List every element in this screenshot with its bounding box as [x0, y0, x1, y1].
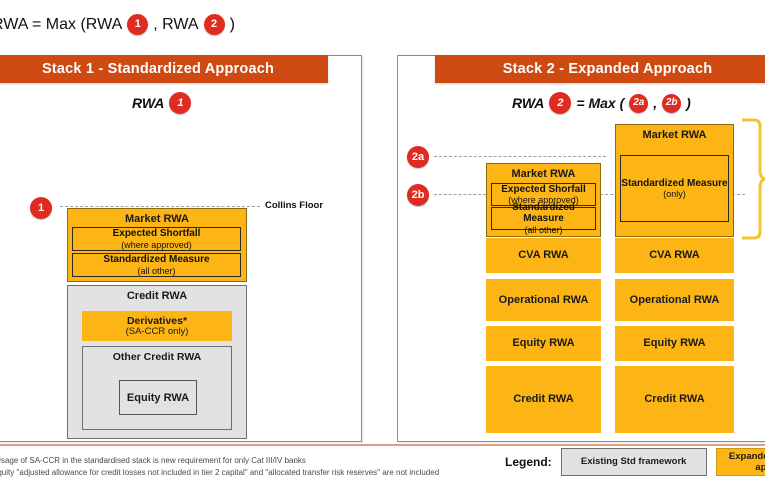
stack2-colA-operational-rwa-label: Operational RWA: [499, 294, 589, 307]
stack1-header-label: Stack 1 - Standardized Approach: [42, 61, 274, 77]
stack1-equity-rwa-box: Equity RWA: [119, 380, 197, 415]
legend-existing-std-label: Existing Std framework: [581, 456, 687, 467]
stack2-colB-standardized-measure-sub: (only): [663, 189, 686, 199]
stack1-derivatives-sub: (SA-CCR only): [126, 327, 189, 338]
legend-expanded-approach-chip: Expanded risk-based approach: [716, 448, 765, 476]
stack2-comma: ,: [653, 95, 657, 111]
stack2-colA-expected-shortfall-label: Expected Shorfall: [501, 184, 585, 196]
legend-existing-std-chip: Existing Std framework: [561, 448, 707, 476]
stack1-header: Stack 1 - Standardized Approach: [0, 55, 328, 83]
stack2-side-badge-2a: 2a: [407, 146, 429, 168]
stack1-equity-rwa-label: Equity RWA: [127, 392, 189, 404]
top-formula: RWA = Max (RWA 1 , RWA 2 ): [0, 14, 235, 35]
top-formula-prefix: RWA = Max (RWA: [0, 16, 122, 34]
legend: Legend: Existing Std framework Expanded …: [505, 448, 765, 476]
stack2-colB-equity-rwa-label: Equity RWA: [643, 337, 705, 350]
footnote-2: Equity "adjusted allowance for credit lo…: [0, 467, 512, 479]
stack2-dash-2b-left: [434, 194, 486, 195]
stack1-standardized-measure-box: Standardized Measure (all other): [72, 253, 241, 277]
stack2-header: Stack 2 - Expanded Approach: [435, 55, 765, 83]
stack2-colA-credit-rwa-label: Credit RWA: [513, 393, 573, 406]
legend-expanded-approach-line2: approach: [755, 462, 765, 473]
legend-label: Legend:: [505, 455, 552, 469]
bottom-divider: [0, 444, 765, 446]
stack2-colA-credit-rwa-box: Credit RWA: [486, 366, 601, 433]
stack1-rwa-title: RWA 1: [132, 92, 191, 114]
stack2-colA-standardized-measure-label: Standardized Measure: [492, 202, 595, 225]
badge-rwa-2: 2: [204, 14, 225, 35]
stack1-expected-shortfall-label: Expected Shortfall: [113, 228, 201, 240]
collins-floor-label: Collins Floor: [265, 200, 323, 211]
stack1-derivatives-box: Derivatives* (SA-CCR only): [82, 311, 232, 341]
stack2-colA-market-rwa-title: Market RWA: [512, 168, 576, 181]
stack1-expected-shortfall-box: Expected Shortfall (where approved): [72, 227, 241, 251]
stack1-rwa-label: RWA: [132, 95, 164, 111]
stack2-colA-equity-rwa-box: Equity RWA: [486, 326, 601, 361]
stack2-colB-standardized-measure-label: Standardized Measure: [621, 178, 727, 190]
collins-floor-line: [60, 206, 260, 207]
diagram-canvas: RWA = Max (RWA 1 , RWA 2 ) Stack 1 - Sta…: [0, 0, 765, 495]
stack2-colA-cva-rwa-label: CVA RWA: [518, 249, 569, 262]
stack2-close-paren: ): [686, 95, 691, 111]
stack2-dash-2a: [434, 156, 606, 157]
top-formula-suffix: ): [230, 16, 235, 34]
footnote-1: *Usage of SA-CCR in the standardised sta…: [0, 455, 512, 467]
stack1-expected-shortfall-sub: (where approved): [121, 240, 192, 250]
stack2-colB-operational-rwa-label: Operational RWA: [630, 294, 720, 307]
footnotes: *Usage of SA-CCR in the standardised sta…: [0, 455, 512, 479]
stack2-colB-standardized-measure-box: Standardized Measure (only): [620, 155, 729, 222]
stack2-colA-standardized-measure-box: Standardized Measure (all other): [491, 207, 596, 230]
legend-expanded-approach-line1: Expanded risk-based: [729, 451, 765, 462]
stack2-colA-operational-rwa-box: Operational RWA: [486, 279, 601, 321]
stack2-colB-operational-rwa-box: Operational RWA: [615, 279, 734, 321]
top-formula-mid: , RWA: [153, 16, 198, 34]
stack2-colA-cva-rwa-box: CVA RWA: [486, 238, 601, 273]
stack1-rwa-badge: 1: [169, 92, 191, 114]
stack2-rwa-badge: 2: [549, 92, 571, 114]
stack2-badge-2a: 2a: [629, 94, 648, 113]
stack2-equals-max: = Max (: [576, 95, 624, 111]
stack2-colA-standardized-measure-sub: (all other): [524, 225, 562, 235]
badge-rwa-1: 1: [127, 14, 148, 35]
stack2-colB-cva-rwa-label: CVA RWA: [649, 249, 700, 262]
stack2-rwa-label: RWA: [512, 95, 544, 111]
stack1-derivatives-label: Derivatives*: [127, 315, 187, 327]
stack2-colA-equity-rwa-label: Equity RWA: [512, 337, 574, 350]
stack2-colB-equity-rwa-box: Equity RWA: [615, 326, 734, 361]
stack2-badge-2b: 2b: [662, 94, 681, 113]
stack2-side-badge-2b: 2b: [407, 184, 429, 206]
stack1-floor-badge: 1: [30, 197, 52, 219]
stack2-colB-credit-rwa-box: Credit RWA: [615, 366, 734, 433]
stack1-other-credit-rwa-title: Other Credit RWA: [113, 351, 201, 363]
stack1-standardized-measure-label: Standardized Measure: [103, 254, 209, 266]
stack2-colB-cva-rwa-box: CVA RWA: [615, 238, 734, 273]
stack2-colB-credit-rwa-label: Credit RWA: [644, 393, 704, 406]
stack2-header-label: Stack 2 - Expanded Approach: [503, 61, 713, 77]
stack1-credit-rwa-title: Credit RWA: [127, 290, 187, 303]
stack1-standardized-measure-sub: (all other): [137, 266, 175, 276]
stack2-colB-market-rwa-title: Market RWA: [643, 129, 707, 142]
stack2-formula: RWA 2 = Max ( 2a , 2b ): [512, 92, 691, 114]
stack1-market-rwa-title: Market RWA: [125, 213, 189, 226]
right-brace-icon: [740, 118, 765, 240]
